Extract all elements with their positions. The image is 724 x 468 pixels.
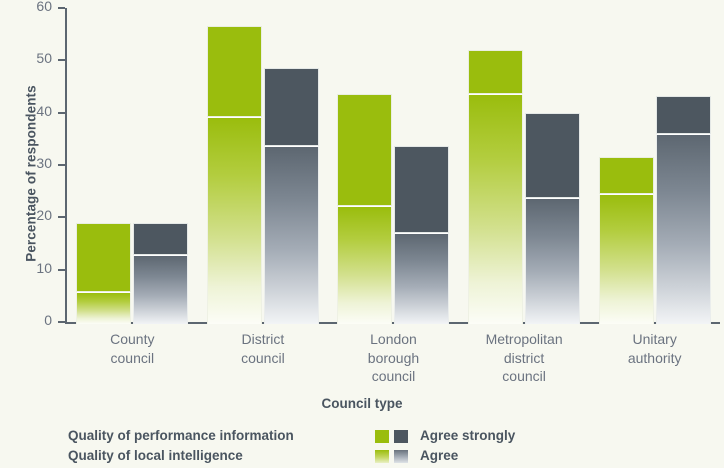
y-tick-40: 40 [58, 112, 65, 114]
x-category-label: Unitaryauthority [589, 330, 720, 367]
bar-segment-intelligence-agree[interactable] [264, 146, 319, 324]
bar-segment-intelligence-agree-strongly[interactable] [264, 68, 319, 147]
x-category-label: Countycouncil [67, 330, 198, 367]
bar-segment-intelligence-agree[interactable] [525, 198, 580, 324]
bar-group [198, 8, 329, 324]
y-tick-10: 10 [58, 269, 65, 271]
bar-local-intelligence[interactable] [656, 96, 711, 324]
bar-segment-intelligence-agree-strongly[interactable] [133, 223, 188, 255]
bar-segment-performance-agree[interactable] [468, 94, 523, 324]
x-category-label-line: district [459, 349, 590, 368]
legend-swatch-green [375, 450, 389, 463]
x-axis-title: Council type [0, 396, 724, 411]
y-tick-label-40: 40 [36, 103, 52, 119]
y-tick-0: 0 [58, 321, 65, 323]
bar-segment-intelligence-agree-strongly[interactable] [525, 113, 580, 198]
legend-kind-label: Agree [420, 446, 458, 466]
x-category-label-line: District [198, 330, 329, 349]
y-tick-label-0: 0 [44, 312, 52, 328]
bar-local-intelligence[interactable] [525, 113, 580, 324]
bar-segment-performance-agree[interactable] [207, 117, 262, 324]
legend-swatch-gray [394, 430, 408, 443]
bar-segment-performance-agree[interactable] [337, 206, 392, 324]
bar-segment-performance-agree-strongly[interactable] [337, 94, 392, 206]
x-category-label-line: council [198, 349, 329, 368]
legend-kind-label: Agree strongly [420, 426, 515, 446]
x-category-label-line: authority [589, 349, 720, 368]
bar-segment-intelligence-agree[interactable] [394, 233, 449, 324]
x-category-label-line: council [328, 367, 459, 386]
bar-local-intelligence[interactable] [394, 146, 449, 324]
x-category-label-line: Metropolitan [459, 330, 590, 349]
legend-swatch-gray [394, 450, 408, 463]
bar-segment-performance-agree[interactable] [599, 194, 654, 324]
bar-segment-performance-agree-strongly[interactable] [468, 50, 523, 94]
y-tick-20: 20 [58, 216, 65, 218]
bar-segment-performance-agree-strongly[interactable] [76, 223, 131, 292]
bar-segment-intelligence-agree-strongly[interactable] [656, 96, 711, 134]
x-category-label-line: council [459, 367, 590, 386]
x-category-label: Metropolitandistrictcouncil [459, 330, 590, 386]
legend-row: Quality of local intelligenceAgree [68, 446, 708, 466]
bar-group [328, 8, 459, 324]
chart-legend: Quality of performance informationAgree … [68, 426, 708, 466]
bar-segment-performance-agree[interactable] [76, 292, 131, 324]
y-tick-label-50: 50 [36, 50, 52, 66]
x-category-label-line: borough [328, 349, 459, 368]
bar-segment-intelligence-agree-strongly[interactable] [394, 146, 449, 233]
y-axis-title: Percentage of respondents [24, 24, 39, 324]
legend-series-label: Quality of local intelligence [68, 446, 243, 466]
x-category-label-line: London [328, 330, 459, 349]
bar-performance-information[interactable] [76, 223, 131, 324]
y-tick-50: 50 [58, 59, 65, 61]
y-tick-label-10: 10 [36, 260, 52, 276]
bar-group [589, 8, 720, 324]
y-tick-label-30: 30 [36, 155, 52, 171]
y-tick-60: 60 [58, 7, 65, 9]
bar-performance-information[interactable] [599, 157, 654, 324]
bar-segment-performance-agree-strongly[interactable] [207, 26, 262, 117]
x-category-label: Districtcouncil [198, 330, 329, 367]
x-category-label-line: Unitary [589, 330, 720, 349]
legend-series-label: Quality of performance information [68, 426, 294, 446]
bar-local-intelligence[interactable] [264, 68, 319, 324]
legend-swatches [375, 430, 411, 443]
x-category-label-line: council [67, 349, 198, 368]
y-tick-label-60: 60 [36, 0, 52, 14]
bar-local-intelligence[interactable] [133, 223, 188, 324]
x-category-label-line: County [67, 330, 198, 349]
bar-groups [67, 8, 720, 324]
legend-swatches [375, 450, 411, 463]
bar-segment-intelligence-agree[interactable] [133, 255, 188, 324]
legend-row: Quality of performance informationAgree … [68, 426, 708, 446]
bar-performance-information[interactable] [468, 50, 523, 324]
y-tick-30: 30 [58, 164, 65, 166]
bar-performance-information[interactable] [337, 94, 392, 324]
bar-group [67, 8, 198, 324]
bar-group [459, 8, 590, 324]
bar-performance-information[interactable] [207, 26, 262, 324]
x-axis-category-labels: CountycouncilDistrictcouncilLondonboroug… [67, 330, 720, 394]
y-tick-label-20: 20 [36, 207, 52, 223]
x-category-label: Londonboroughcouncil [328, 330, 459, 386]
chart-root: Percentage of respondents 6050403020100 … [0, 0, 724, 468]
plot-area: 6050403020100 [65, 8, 720, 324]
bar-segment-intelligence-agree[interactable] [656, 134, 711, 324]
legend-swatch-green [375, 430, 389, 443]
bar-segment-performance-agree-strongly[interactable] [599, 157, 654, 194]
